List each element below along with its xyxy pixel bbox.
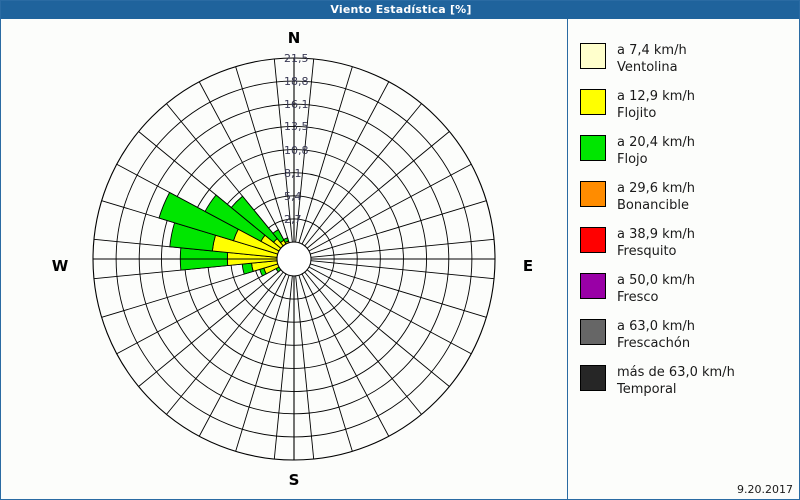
legend-label: a 29,6 km/hBonancible [617, 180, 695, 214]
legend-item: a 38,9 km/hFresquito [580, 226, 795, 263]
grid-spoke [310, 201, 486, 254]
legend-label: a 12,9 km/hFlojito [617, 88, 695, 122]
grid-spoke [305, 104, 422, 246]
radial-tick-label: 21,5 [284, 52, 309, 65]
compass-label-east: E [509, 257, 547, 275]
legend-speed-label: más de 63,0 km/h [617, 365, 735, 380]
window-title-bar: Viento Estadística [%] [1, 1, 800, 19]
radial-tick-label: 2,7 [284, 213, 302, 226]
legend-name-label: Flojo [617, 151, 695, 168]
hub-circle [277, 242, 311, 276]
wind-statistics-window: Viento Estadística [%] N S W E 2,75,48,1… [0, 0, 800, 500]
radial-tick-label: 13,5 [284, 120, 309, 133]
legend-name-label: Flojito [617, 105, 695, 122]
radial-tick-label: 10,8 [284, 144, 309, 157]
legend-speed-label: a 7,4 km/h [617, 43, 687, 58]
legend-label: a 20,4 km/hFlojo [617, 134, 695, 168]
wind-rose-segment [284, 238, 289, 243]
legend-speed-label: a 63,0 km/h [617, 319, 695, 334]
grid-spoke [307, 131, 449, 248]
legend-label: más de 63,0 km/hTemporal [617, 364, 735, 398]
legend-color-swatch [580, 43, 606, 69]
legend-name-label: Temporal [617, 381, 735, 398]
grid-spoke [310, 264, 486, 317]
legend-item: a 29,6 km/hBonancible [580, 180, 795, 217]
compass-label-south: S [1, 471, 587, 489]
compass-label-north: N [1, 29, 587, 47]
legend-speed-label: a 12,9 km/h [617, 89, 695, 104]
radial-tick-label: 16,1 [284, 98, 309, 111]
legend-item: a 7,4 km/hVentolina [580, 42, 795, 79]
legend-label: a 38,9 km/hFresquito [617, 226, 695, 260]
legend-panel: a 7,4 km/hVentolinaa 12,9 km/hFlojitoa 2… [567, 19, 800, 500]
legend-color-swatch [580, 181, 606, 207]
legend-color-swatch [580, 319, 606, 345]
legend-speed-label: a 29,6 km/h [617, 181, 695, 196]
center-hub [277, 242, 311, 276]
radial-tick-label: 18,8 [284, 75, 309, 88]
legend-color-swatch [580, 365, 606, 391]
wind-rose-svg [1, 19, 567, 500]
legend-items: a 7,4 km/hVentolinaa 12,9 km/hFlojitoa 2… [580, 42, 795, 410]
legend-label: a 63,0 km/hFrescachón [617, 318, 695, 352]
compass-label-west: W [41, 257, 79, 275]
legend-color-swatch [580, 135, 606, 161]
legend-item: a 12,9 km/hFlojito [580, 88, 795, 125]
legend-item: más de 63,0 km/hTemporal [580, 364, 795, 401]
legend-name-label: Frescachón [617, 335, 695, 352]
legend-name-label: Fresco [617, 289, 695, 306]
window-content: N S W E 2,75,48,110,813,516,118,821,5 a … [1, 19, 800, 500]
grid-spoke [139, 270, 281, 387]
legend-speed-label: a 50,0 km/h [617, 273, 695, 288]
legend-item: a 63,0 km/hFrescachón [580, 318, 795, 355]
window-title: Viento Estadística [%] [330, 3, 471, 16]
radial-tick-label: 8,1 [284, 167, 302, 180]
grid-spoke [166, 272, 283, 414]
grid-spoke [305, 272, 422, 414]
date-stamp: 9.20.2017 [737, 483, 793, 496]
legend-speed-label: a 38,9 km/h [617, 227, 695, 242]
wind-rose-petals [159, 192, 289, 275]
grid-spoke [307, 270, 449, 387]
legend-label: a 50,0 km/hFresco [617, 272, 695, 306]
legend-name-label: Bonancible [617, 197, 695, 214]
legend-name-label: Fresquito [617, 243, 695, 260]
wind-rose-segment [242, 263, 253, 274]
grid-spoke [299, 275, 352, 451]
grid-spoke [236, 275, 289, 451]
legend-item: a 50,0 km/hFresco [580, 272, 795, 309]
radial-tick-label: 5,4 [284, 190, 302, 203]
legend-color-swatch [580, 89, 606, 115]
legend-item: a 20,4 km/hFlojo [580, 134, 795, 171]
legend-label: a 7,4 km/hVentolina [617, 42, 687, 76]
legend-color-swatch [580, 227, 606, 253]
legend-name-label: Ventolina [617, 59, 687, 76]
wind-rose-chart: N S W E 2,75,48,110,813,516,118,821,5 [1, 19, 567, 500]
legend-speed-label: a 20,4 km/h [617, 135, 695, 150]
legend-color-swatch [580, 273, 606, 299]
